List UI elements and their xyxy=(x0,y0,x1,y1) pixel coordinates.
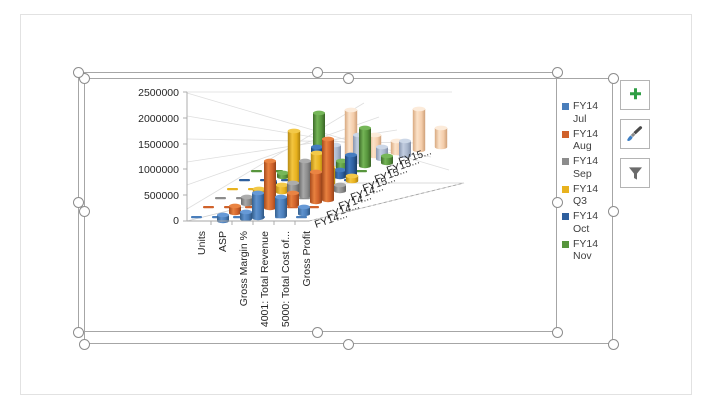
resize-handle-bottom-center[interactable] xyxy=(343,339,354,350)
chart-area-selection-frame[interactable] xyxy=(84,78,613,344)
chart-filters-button[interactable] xyxy=(620,158,650,188)
resize-handle-top-center[interactable] xyxy=(343,73,354,84)
screenshot-root: 0 500000 1000000 1500000 2000000 2500000… xyxy=(0,0,711,409)
resize-handle-bottom-left[interactable] xyxy=(79,339,90,350)
plot-resize-handle-middle-right[interactable] xyxy=(552,197,563,208)
plot-resize-handle-bottom-left[interactable] xyxy=(73,327,84,338)
paintbrush-icon xyxy=(626,125,644,143)
plot-resize-handle-bottom-center[interactable] xyxy=(312,327,323,338)
chart-styles-button[interactable] xyxy=(620,119,650,149)
resize-handle-bottom-right[interactable] xyxy=(608,339,619,350)
resize-handle-middle-right[interactable] xyxy=(608,206,619,217)
plot-resize-handle-middle-left[interactable] xyxy=(73,197,84,208)
chart-elements-button[interactable] xyxy=(620,80,650,110)
plot-resize-handle-bottom-right[interactable] xyxy=(552,327,563,338)
plot-resize-handle-top-right[interactable] xyxy=(552,67,563,78)
chart-tools-panel[interactable] xyxy=(620,80,652,197)
plot-resize-handle-top-left[interactable] xyxy=(73,67,84,78)
plus-icon xyxy=(627,87,644,104)
resize-handle-top-right[interactable] xyxy=(608,73,619,84)
funnel-icon xyxy=(627,165,644,182)
plot-resize-handle-top-center[interactable] xyxy=(312,67,323,78)
